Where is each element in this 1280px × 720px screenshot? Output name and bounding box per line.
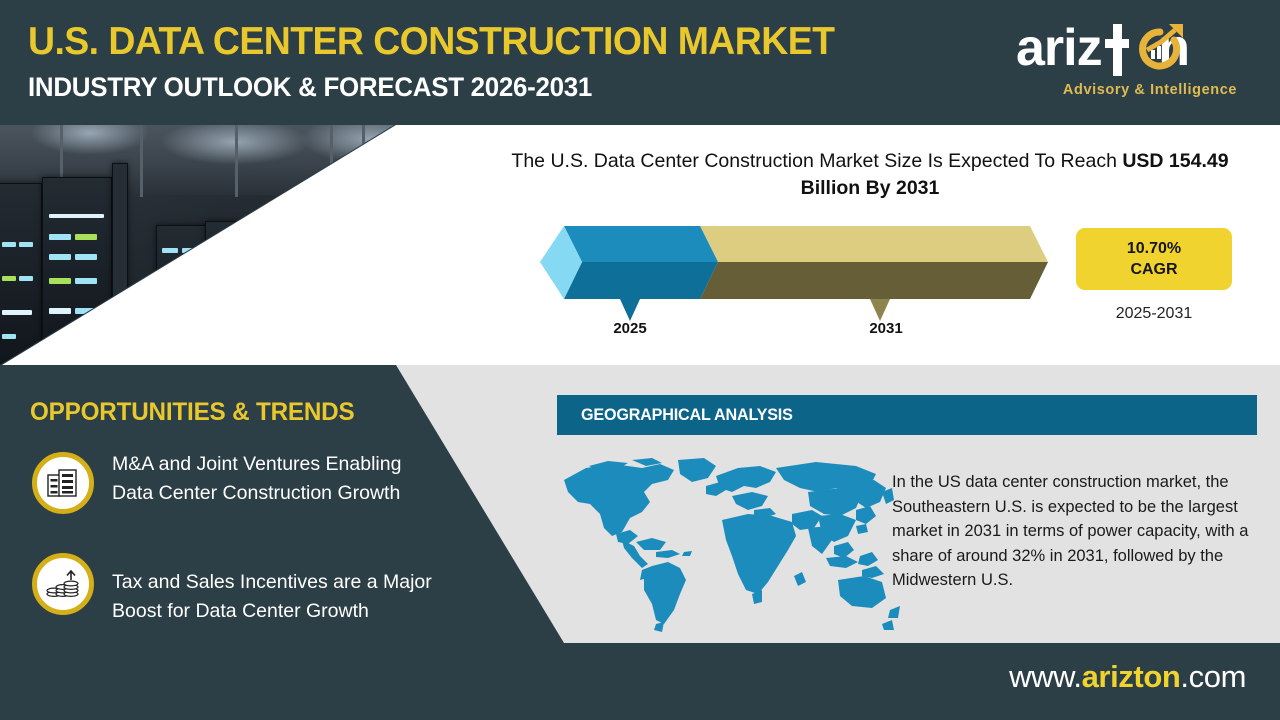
opportunity-text-2: Tax and Sales Incentives are a Major Boo… [112,568,452,625]
logo-t-glyph [1104,22,1130,78]
cagr-badge: 10.70% CAGR [1076,228,1232,290]
header-bar: U.S. DATA CENTER CONSTRUCTION MARKET IND… [0,0,1280,125]
geographical-banner-label: GEOGRAPHICAL ANALYSIS [581,405,793,425]
cagr-period: 2025-2031 [1076,305,1232,323]
url-suffix: .com [1180,659,1246,694]
geographical-banner: GEOGRAPHICAL ANALYSIS [557,395,1257,435]
cagr-label: CAGR [1130,259,1177,280]
cagr-value: 10.70% [1127,238,1181,259]
bar-2025 [540,226,718,321]
logo-circle-arrow-bars-icon [1127,20,1189,78]
url-brand: arizton [1082,659,1181,694]
bar-label-2031: 2031 [836,320,936,337]
opportunity-text-1: M&A and Joint Ventures Enabling Data Cen… [112,450,442,507]
website-url[interactable]: www.arizton.com [1009,659,1246,695]
world-map-icon [556,458,901,638]
page-title: U.S. DATA CENTER CONSTRUCTION MARKET [28,20,834,64]
url-prefix: www. [1009,659,1081,694]
bar-label-2025: 2025 [580,320,680,337]
building-racks-icon [32,452,94,514]
footer-bar: www.arizton.com [0,643,1280,720]
arizton-logo[interactable]: arizt n Advisory & Intelligence [1008,16,1258,108]
geographical-description: In the US data center construction marke… [892,470,1258,593]
logo-tagline: Advisory & Intelligence [1042,82,1258,98]
bar-2031 [683,226,1048,321]
infographic-page: U.S. DATA CENTER CONSTRUCTION MARKET IND… [0,0,1280,720]
opportunities-title: OPPORTUNITIES & TRENDS [30,398,354,427]
coins-up-arrow-icon [32,553,94,615]
logo-wordmark: arizt n [1008,18,1258,80]
page-subtitle: INDUSTRY OUTLOOK & FORECAST 2026-2031 [28,72,592,103]
